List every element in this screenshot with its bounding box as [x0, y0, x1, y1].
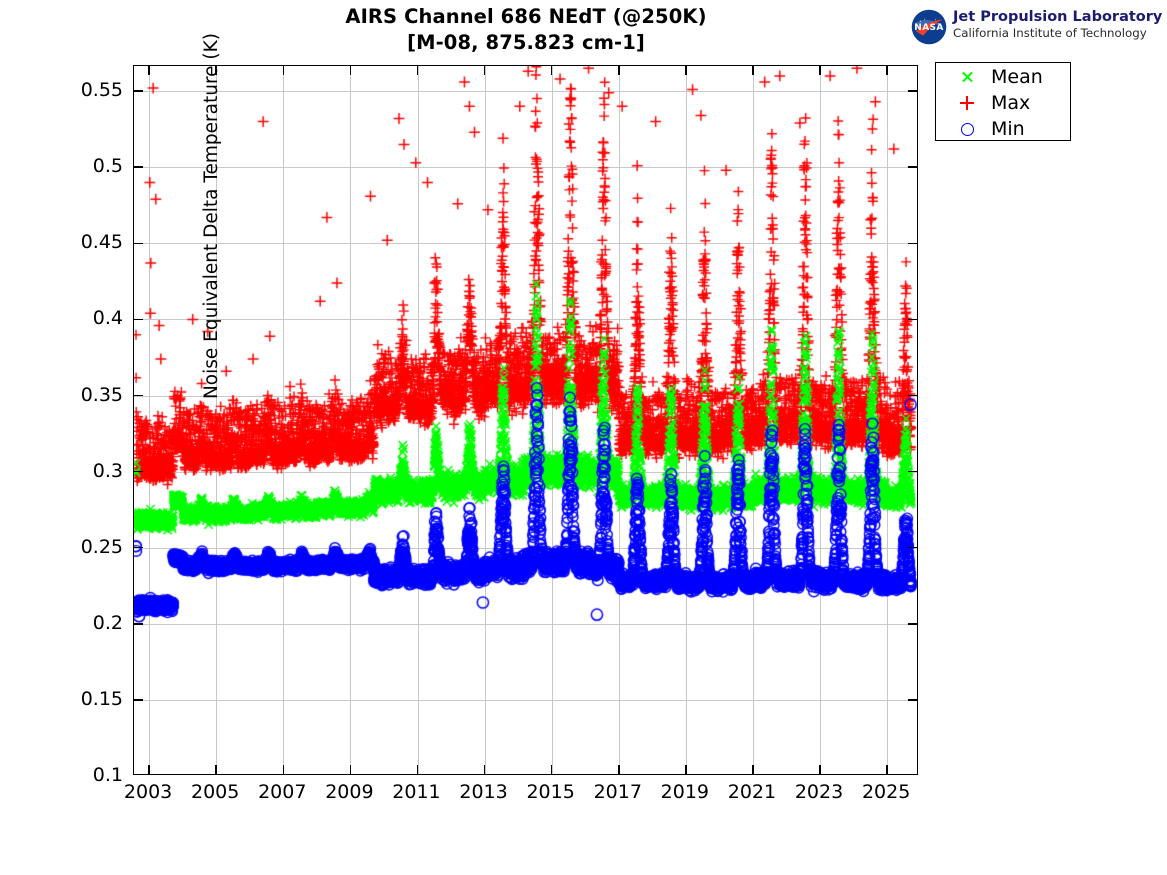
- x-axis-tick: [819, 765, 821, 774]
- x-axis-tick: [484, 66, 486, 75]
- legend-label-max: Max: [991, 90, 1030, 116]
- x-axis-tick: [350, 66, 352, 75]
- svg-text:NASA: NASA: [914, 23, 943, 33]
- y-axis-tick: [908, 699, 917, 701]
- nasa-jpl-logo: NASA Jet Propulsion Laboratory Californi…: [911, 8, 1161, 46]
- y-axis-tick: [134, 699, 143, 701]
- x-axis-tick: [685, 66, 687, 75]
- chart-legend: Mean Max Min: [935, 62, 1071, 141]
- legend-label-min: Min: [991, 116, 1025, 142]
- y-axis-tick: [908, 90, 917, 92]
- circle-marker-icon: [950, 116, 984, 142]
- x-axis-tick: [886, 765, 888, 774]
- plus-marker-icon: [950, 90, 984, 116]
- jpl-name: Jet Propulsion Laboratory: [953, 8, 1162, 26]
- x-axis-tick: [350, 765, 352, 774]
- chart-title-line-2: [M-08, 875.823 cm-1]: [133, 30, 919, 56]
- y-axis-tick-label: 0.5: [53, 156, 123, 176]
- x-axis-tick: [148, 66, 150, 75]
- y-axis-tick: [134, 395, 143, 397]
- x-axis-tick: [886, 66, 888, 75]
- plot-area: [133, 65, 918, 775]
- legend-item-min[interactable]: Min: [936, 116, 1070, 142]
- y-axis-tick: [134, 319, 143, 321]
- scatter-canvas: [134, 66, 917, 774]
- plot-clip: [134, 66, 917, 774]
- y-axis-tick: [908, 319, 917, 321]
- x-axis-tick: [752, 66, 754, 75]
- y-axis-tick-label: 0.55: [53, 80, 123, 100]
- nasa-seal-icon: NASA: [911, 9, 947, 45]
- y-axis-tick: [134, 623, 143, 625]
- y-axis-tick-label: 0.15: [53, 689, 123, 709]
- x-axis-tick: [752, 765, 754, 774]
- y-axis-tick: [134, 243, 143, 245]
- x-axis-tick: [819, 66, 821, 75]
- jpl-subtitle: California Institute of Technology: [953, 26, 1162, 41]
- x-axis-tick: [283, 765, 285, 774]
- y-axis-tick: [908, 166, 917, 168]
- x-axis-tick: [215, 765, 217, 774]
- y-axis-tick-label: 0.4: [53, 308, 123, 328]
- y-axis-tick: [134, 471, 143, 473]
- x-axis-tick: [417, 765, 419, 774]
- legend-item-max[interactable]: Max: [936, 90, 1070, 116]
- y-axis-tick: [908, 623, 917, 625]
- x-axis-tick: [551, 765, 553, 774]
- y-axis-tick: [908, 243, 917, 245]
- y-axis-title-text: Noise Equivalent Delta Temperature (K): [192, 0, 232, 441]
- y-axis-tick: [134, 547, 143, 549]
- legend-item-mean[interactable]: Mean: [936, 64, 1070, 90]
- y-axis-tick-label: 0.3: [53, 461, 123, 481]
- x-axis-tick: [551, 66, 553, 75]
- y-axis-tick: [134, 90, 143, 92]
- chart-title-line-1: AIRS Channel 686 NEdT (@250K): [133, 4, 919, 30]
- y-axis-title: Noise Equivalent Delta Temperature (K): [192, 0, 232, 441]
- legend-label-mean: Mean: [991, 64, 1043, 90]
- x-marker-icon: [950, 64, 984, 90]
- y-axis-tick: [134, 166, 143, 168]
- x-axis-tick: [417, 66, 419, 75]
- y-axis-tick: [908, 471, 917, 473]
- x-axis-tick: [685, 765, 687, 774]
- y-axis-tick-label: 0.2: [53, 613, 123, 633]
- x-axis-tick: [283, 66, 285, 75]
- x-axis-tick: [618, 765, 620, 774]
- jpl-wordmark: Jet Propulsion Laboratory California Ins…: [953, 8, 1162, 41]
- x-axis-tick: [618, 66, 620, 75]
- chart-title: AIRS Channel 686 NEdT (@250K) [M-08, 875…: [133, 4, 919, 56]
- y-axis-tick: [908, 395, 917, 397]
- x-axis-tick: [148, 765, 150, 774]
- x-axis-tick: [484, 765, 486, 774]
- y-axis-tick-label: 0.25: [53, 537, 123, 557]
- x-axis-tick-label: 2025: [846, 781, 926, 803]
- chart-page: AIRS Channel 686 NEdT (@250K) [M-08, 875…: [0, 0, 1167, 875]
- y-axis-tick-label: 0.45: [53, 232, 123, 252]
- y-axis-tick: [908, 547, 917, 549]
- y-axis-tick-label: 0.35: [53, 385, 123, 405]
